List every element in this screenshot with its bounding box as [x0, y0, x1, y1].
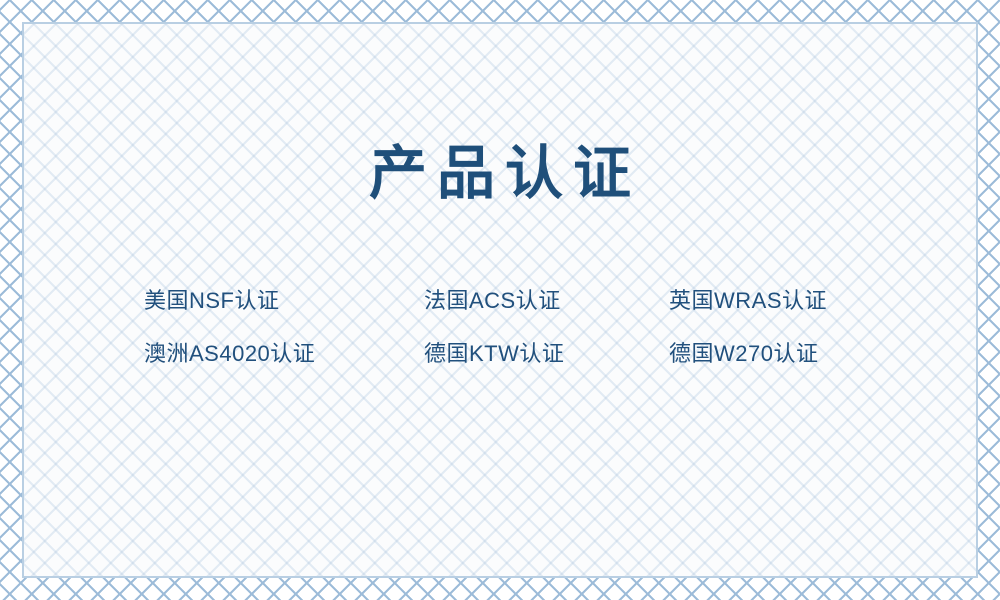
inner-frame-panel: 产品认证 美国NSF认证 法国ACS认证 英国WRAS认证 澳洲AS4020认证… — [22, 22, 978, 578]
certification-item-ktw: 德国KTW认证 — [424, 336, 669, 368]
certification-item-wras: 英国WRAS认证 — [669, 283, 874, 315]
certification-slide: 产品认证 美国NSF认证 法国ACS认证 英国WRAS认证 澳洲AS4020认证… — [0, 0, 1000, 600]
certification-item-nsf: 美国NSF认证 — [144, 283, 424, 315]
slide-content: 产品认证 美国NSF认证 法国ACS认证 英国WRAS认证 澳洲AS4020认证… — [24, 24, 976, 576]
page-title: 产品认证 — [24, 141, 976, 208]
certification-item-w270: 德国W270认证 — [669, 336, 874, 368]
certification-item-as4020: 澳洲AS4020认证 — [144, 336, 424, 368]
certification-item-acs: 法国ACS认证 — [424, 283, 669, 315]
certification-list: 美国NSF认证 法国ACS认证 英国WRAS认证 澳洲AS4020认证 德国KT… — [144, 272, 874, 378]
